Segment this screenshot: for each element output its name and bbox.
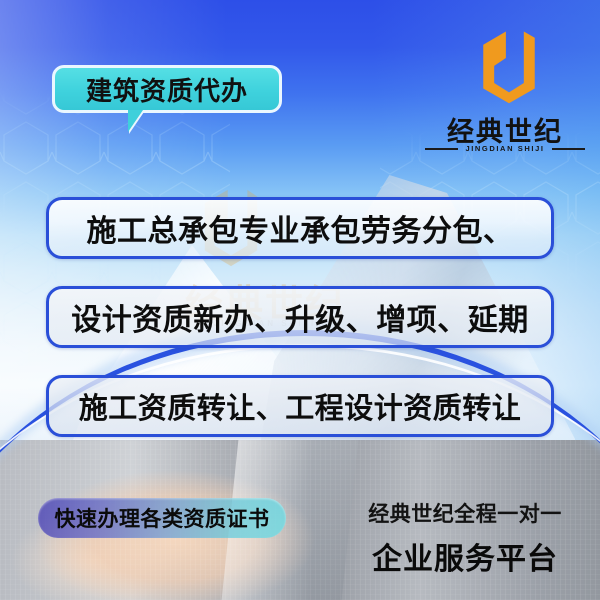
footer-tagline-top: 经典世纪全程一对一: [345, 498, 585, 528]
speech-bubble-tail-icon: [128, 110, 152, 132]
headline-speech-bubble: 建筑资质代办: [52, 65, 282, 113]
service-bar-list: 施工总承包专业承包劳务分包、 设计资质新办、升级、增项、延期 施工资质转让、工程…: [46, 197, 554, 464]
service-bar[interactable]: 施工总承包专业承包劳务分包、: [46, 197, 554, 259]
brand-subtitle-row: JINGDIAN SHIJI: [425, 144, 585, 153]
brand-rule-left: [425, 148, 458, 150]
brand-logo-block: 经典世纪 JINGDIAN SHIJI: [425, 26, 585, 171]
footer-tagline-main: 企业服务平台: [345, 534, 585, 578]
footer-pill-badge[interactable]: 快速办理各类资质证书: [38, 498, 286, 538]
service-bar-label: 施工总承包专业承包劳务分包、: [87, 206, 514, 250]
service-bar-label: 施工资质转让、工程设计资质转让: [79, 385, 522, 427]
footer-tagline-block: 经典世纪全程一对一 企业服务平台: [345, 498, 585, 578]
brand-subtitle: JINGDIAN SHIJI: [465, 144, 544, 153]
advertisement-poster: 经典世纪 JINGDIAN SHIJI 建筑资质代办 经典世纪 JINGDIAN…: [0, 0, 600, 600]
service-bar-label: 设计资质新办、升级、增项、延期: [71, 295, 529, 339]
jingdian-j-shield-logo-icon: [470, 26, 548, 108]
service-bar[interactable]: 设计资质新办、升级、增项、延期: [46, 286, 554, 348]
headline-text: 建筑资质代办: [86, 71, 248, 108]
footer-pill-label: 快速办理各类资质证书: [55, 503, 270, 533]
brand-rule-right: [552, 148, 585, 150]
service-bar[interactable]: 施工资质转让、工程设计资质转让: [46, 375, 554, 437]
